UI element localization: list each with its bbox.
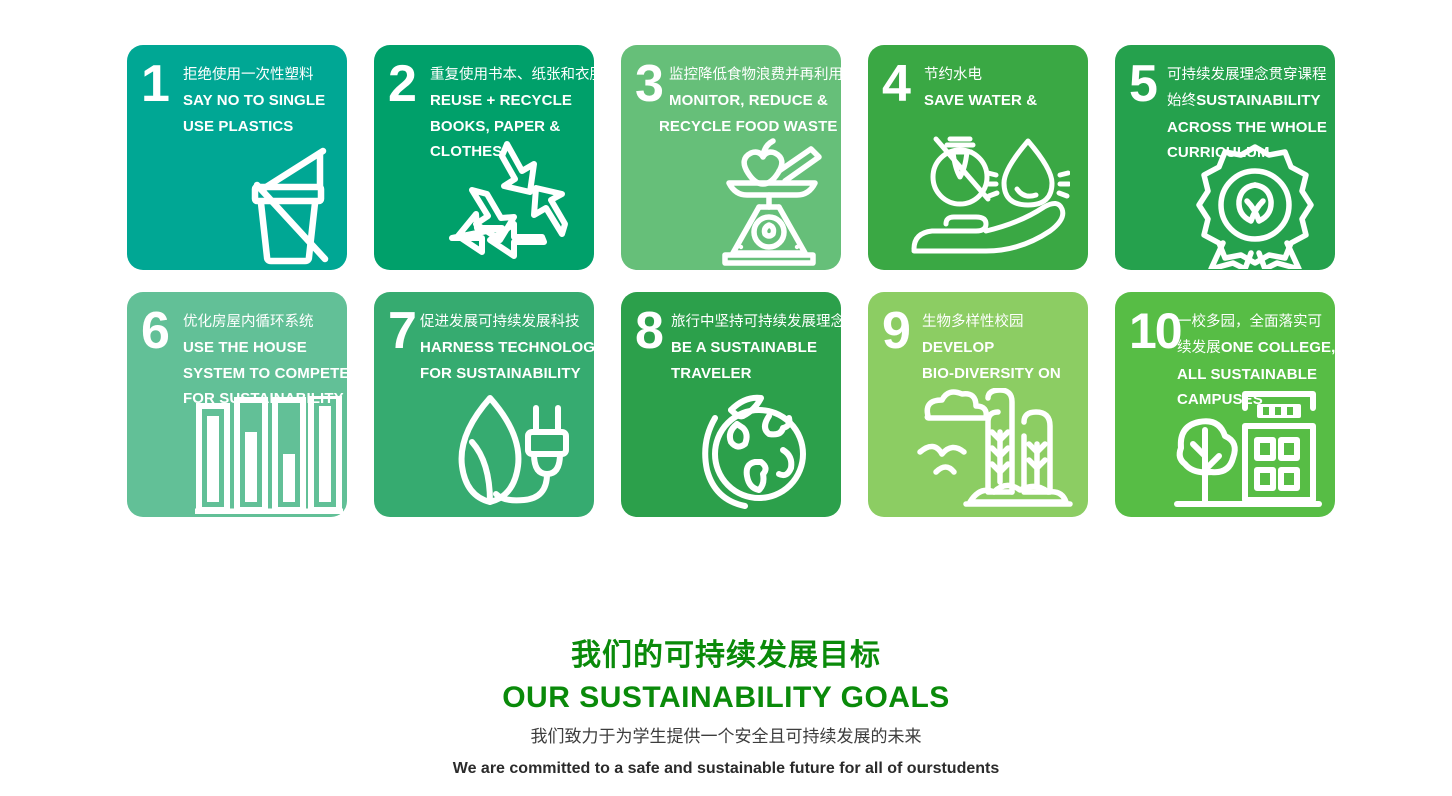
caption-cn-subtitle: 我们致力于为学生提供一个安全且可持续发展的未来 [0,720,1452,754]
goal-number-8: 8 [635,306,663,356]
goal-number-5: 5 [1129,59,1157,109]
goal-card-10[interactable]: 10 一校多园，全面落实可 续发展ONE COLLEGE, ALL SUSTAI… [1115,292,1335,517]
goal-card-2[interactable]: 2 重复使用书本、纸张和衣服 REUSE + RECYCLE BOOKS, PA… [374,45,594,270]
goal-number-10: 10 [1129,306,1181,356]
goal-number-1: 1 [141,59,169,109]
caption-en-title: OUR SUSTAINABILITY GOALS [0,676,1452,720]
goal-card-6[interactable]: 6 优化房屋内循环系统 USE THE HOUSE SYSTEM TO COMP… [127,292,347,517]
goal-number-4: 4 [882,59,910,109]
goal-card-3[interactable]: 3 监控降低食物浪费并再利用 MONITOR, REDUCE & RECYCLE… [621,45,841,270]
goal-card-7[interactable]: 7 促进发展可持续发展科技 HARNESS TECHNOLOGY FOR SUS… [374,292,594,517]
goal-card-9[interactable]: 9 生物多样性校园 DEVELOP BIO-DIVERSITY ON [868,292,1088,517]
goals-row-top: 1 拒绝使用一次性塑料 SAY NO TO SINGLE USE PLASTIC… [127,45,1349,270]
goals-row-bottom: 6 优化房屋内循环系统 USE THE HOUSE SYSTEM TO COMP… [127,292,1349,517]
goal-number-9: 9 [882,306,910,356]
sustainability-goals-grid: 1 拒绝使用一次性塑料 SAY NO TO SINGLE USE PLASTIC… [127,45,1349,539]
goal-number-2: 2 [388,59,416,109]
goal-number-7: 7 [388,306,416,356]
goal-card-4[interactable]: 4 节约水电 SAVE WATER & [868,45,1088,270]
caption-cn-title: 我们的可持续发展目标 [0,636,1452,676]
goal-number-3: 3 [635,59,663,109]
goal-card-5[interactable]: 5 可持续发展理念贯穿课程 始终SUSTAINABILITY ACROSS TH… [1115,45,1335,270]
goal-card-8[interactable]: 8 旅行中坚持可持续发展理念 BE A SUSTAINABLE TRAVELER [621,292,841,517]
goal-card-1[interactable]: 1 拒绝使用一次性塑料 SAY NO TO SINGLE USE PLASTIC… [127,45,347,270]
caption-block: 我们的可持续发展目标 OUR SUSTAINABILITY GOALS 我们致力… [0,636,1452,784]
caption-en-subtitle: We are committed to a safe and sustainab… [0,754,1452,784]
goal-number-6: 6 [141,306,169,356]
